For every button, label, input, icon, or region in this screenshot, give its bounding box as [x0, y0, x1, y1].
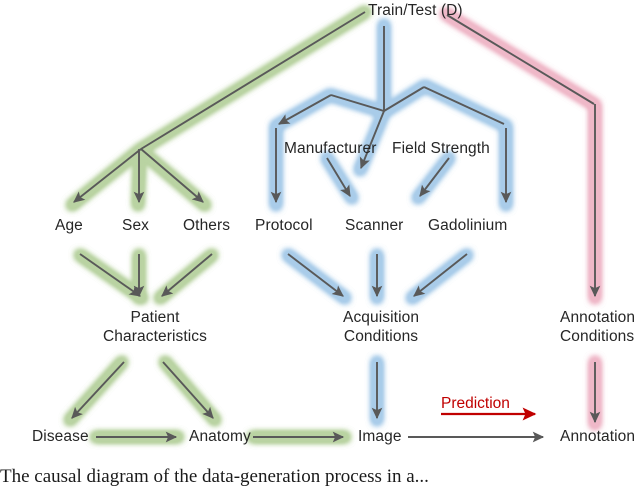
node-annotation-conditions-line1: Annotation — [560, 309, 635, 328]
edge-manufacturer-to-scanner — [327, 158, 350, 196]
node-train-test[interactable]: Train/Test (D) — [368, 2, 463, 19]
node-acquisition-conditions-line1: Acquisition — [343, 309, 419, 328]
prediction-label-text: Prediction — [441, 395, 510, 412]
node-manufacturer[interactable]: Manufacturer — [284, 140, 377, 157]
causal-graph-edges — [0, 0, 640, 488]
edge-green-junction-to-age — [74, 149, 141, 202]
node-patient-characteristics[interactable]: Patient Characteristics — [103, 309, 207, 346]
node-disease-label: Disease — [32, 428, 89, 445]
node-sex-label: Sex — [122, 217, 149, 234]
node-patient-characteristics-line1: Patient — [103, 309, 207, 328]
figure-canvas: Train/Test (D) Manufacturer Field Streng… — [0, 0, 640, 488]
edge-root-to-manufacturer-bend — [331, 95, 384, 111]
node-acquisition-conditions[interactable]: Acquisition Conditions — [343, 309, 419, 346]
edge-field-strength-to-scanner — [420, 158, 449, 196]
edge-root-to-annotation-bend — [447, 15, 594, 104]
figure-caption: The causal diagram of the data-generatio… — [0, 466, 640, 488]
node-anatomy[interactable]: Anatomy — [189, 428, 251, 445]
node-annotation-label: Annotation — [560, 428, 635, 445]
node-annotation[interactable]: Annotation — [560, 428, 635, 445]
edge-age-to-patient-characteristics — [80, 254, 140, 296]
node-age[interactable]: Age — [55, 217, 83, 234]
node-field-strength[interactable]: Field Strength — [392, 140, 490, 157]
figure-caption-text: The causal diagram of the data-generatio… — [0, 466, 429, 487]
node-annotation-conditions[interactable]: Annotation Conditions — [560, 309, 635, 346]
node-gadolinium-label: Gadolinium — [428, 217, 507, 234]
node-protocol[interactable]: Protocol — [255, 217, 313, 234]
edge-protocol-to-acquisition-conditions — [288, 254, 343, 296]
node-field-strength-label: Field Strength — [392, 140, 490, 157]
node-sex[interactable]: Sex — [122, 217, 149, 234]
node-acquisition-conditions-line2: Conditions — [343, 328, 419, 347]
node-gadolinium[interactable]: Gadolinium — [428, 217, 507, 234]
edge-others-to-patient-characteristics — [162, 254, 212, 296]
arrow-layer — [72, 12, 595, 437]
node-others-label: Others — [183, 217, 230, 234]
node-patient-characteristics-line2: Characteristics — [103, 328, 207, 347]
edge-green-junction-to-others — [141, 149, 203, 202]
node-image[interactable]: Image — [358, 428, 402, 445]
edge-patient-characteristics-to-anatomy — [163, 362, 213, 418]
edge-root-to-manufacturer — [279, 95, 331, 124]
prediction-label: Prediction — [441, 395, 510, 413]
node-annotation-conditions-line2: Conditions — [560, 328, 635, 347]
edge-gadolinium-to-acquisition-conditions — [414, 254, 467, 296]
node-others[interactable]: Others — [183, 217, 230, 234]
edge-root-to-field-strength-bend — [424, 87, 504, 124]
node-disease[interactable]: Disease — [32, 428, 89, 445]
node-image-label: Image — [358, 428, 402, 445]
edge-root-to-right-bend — [384, 87, 424, 111]
node-scanner-label: Scanner — [345, 217, 403, 234]
node-age-label: Age — [55, 217, 83, 234]
node-protocol-label: Protocol — [255, 217, 313, 234]
node-scanner[interactable]: Scanner — [345, 217, 403, 234]
node-anatomy-label: Anatomy — [189, 428, 251, 445]
node-train-test-label: Train/Test (D) — [368, 2, 463, 19]
edge-root-to-green-junction — [141, 12, 365, 149]
edge-patient-characteristics-to-disease — [72, 362, 124, 418]
node-manufacturer-label: Manufacturer — [284, 140, 377, 157]
